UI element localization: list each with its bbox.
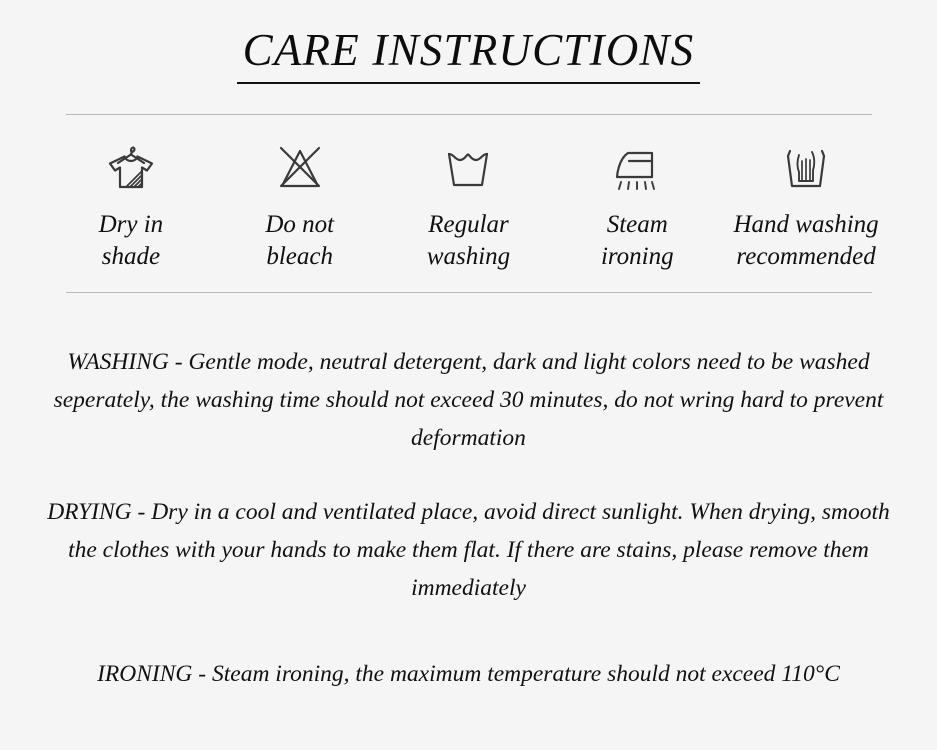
hand-washing-icon (777, 137, 835, 197)
steam-ironing-icon (608, 137, 666, 197)
care-symbol-label: Steam ironing (601, 209, 674, 274)
do-not-bleach-icon (271, 137, 329, 197)
page-title: CARE INSTRUCTIONS (237, 26, 701, 84)
care-symbol-row: Dry in shade Do not bleach (29, 115, 909, 274)
care-symbol-hand-washing: Hand washing recommended (722, 137, 891, 274)
care-symbol-label: Dry in shade (99, 209, 164, 274)
care-symbol-label: Regular washing (427, 209, 510, 274)
dry-in-shade-icon (100, 137, 162, 197)
instructions-block: WASHING - Gentle mode, neutral detergent… (29, 343, 909, 693)
instruction-ironing: IRONING - Steam ironing, the maximum tem… (46, 655, 891, 693)
care-symbol-label: Hand washing recommended (734, 209, 879, 274)
care-symbol-label: Do not bleach (265, 209, 334, 274)
care-symbol-dry-in-shade: Dry in shade (47, 137, 216, 274)
page-title-container: CARE INSTRUCTIONS (237, 26, 701, 84)
care-instructions-page: CARE INSTRUCTIONS Dry in (0, 0, 937, 750)
care-symbol-regular-washing: Regular washing (384, 137, 553, 274)
divider-bottom (66, 292, 872, 293)
instruction-washing: WASHING - Gentle mode, neutral detergent… (46, 343, 891, 457)
care-symbol-steam-ironing: Steam ironing (553, 137, 722, 274)
care-symbol-do-not-bleach: Do not bleach (215, 137, 384, 274)
regular-washing-icon (439, 137, 497, 197)
instruction-drying: DRYING - Dry in a cool and ventilated pl… (46, 493, 891, 607)
